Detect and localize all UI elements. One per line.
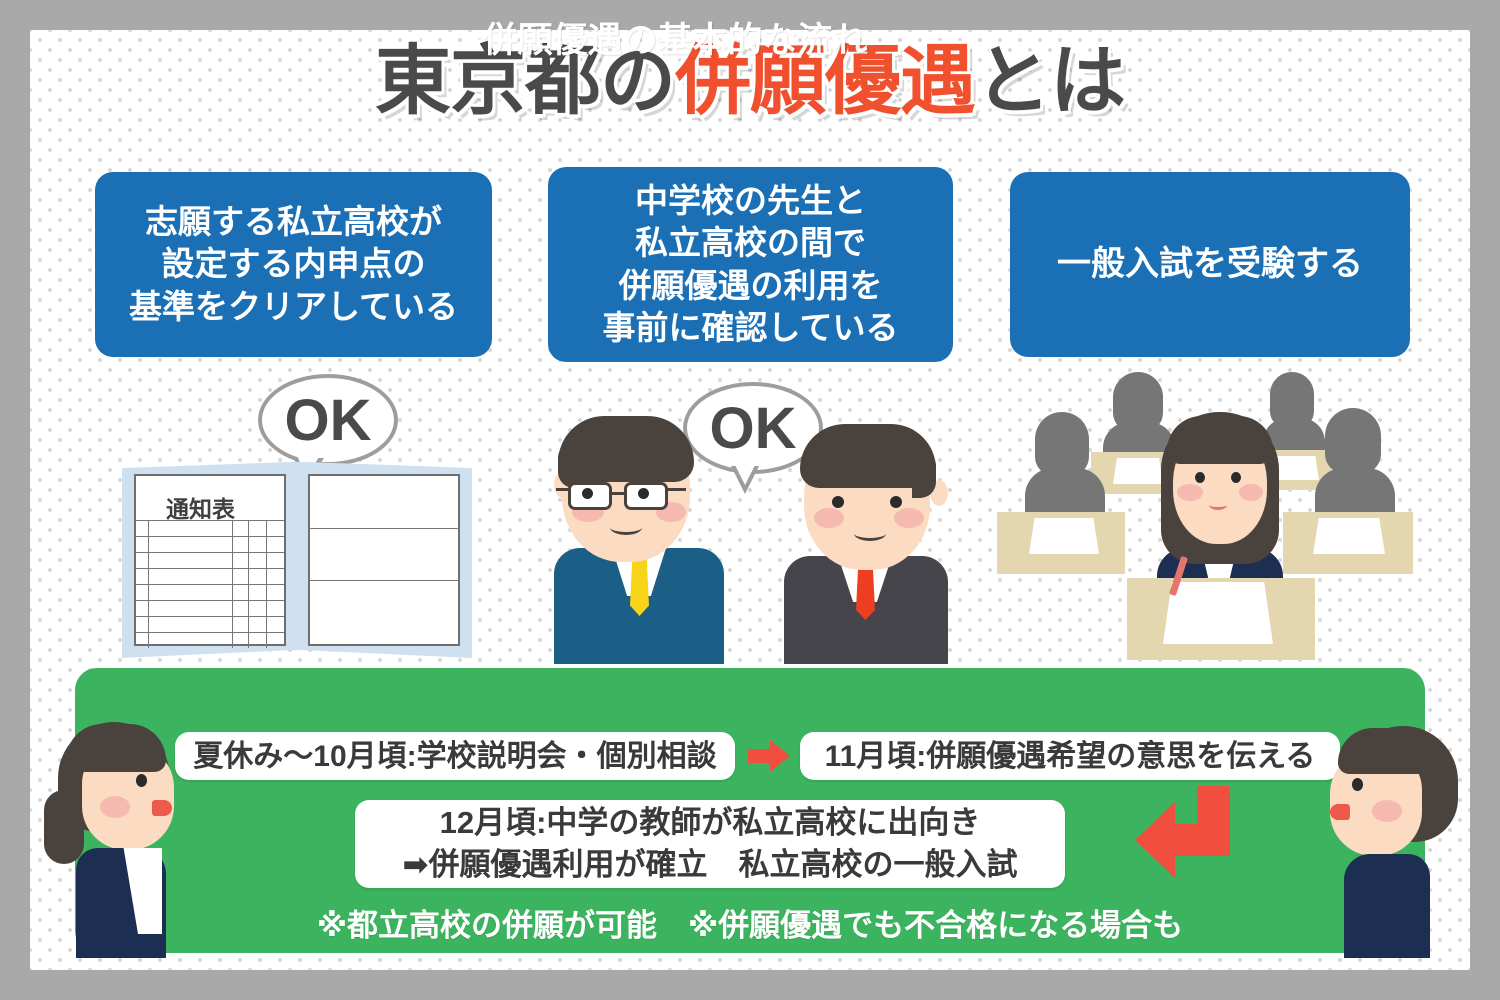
eye-left-exam-student	[1195, 472, 1205, 483]
mouth-exam-student	[1209, 500, 1227, 510]
hair-side-staff	[912, 450, 936, 498]
mouth-girl	[152, 800, 172, 816]
report-card-illustration: 通知表	[122, 462, 472, 662]
flow-step-1: 夏休み〜10月頃:学校説明会・個別相談	[175, 732, 735, 780]
student-silhouette-mid-right	[1325, 408, 1381, 474]
eye-girl	[136, 774, 147, 787]
red-tie-icon	[856, 564, 875, 620]
exam-paper-mid-left	[1029, 518, 1099, 554]
condition-card-2-line-2: 私立高校の間で	[602, 222, 898, 264]
yellow-tie-icon	[630, 558, 649, 616]
eye-boy	[1352, 778, 1363, 791]
report-card-grid-right	[310, 476, 458, 644]
ok-label-1: OK	[285, 387, 372, 454]
cheek-right-staff	[894, 508, 924, 528]
student-girl-illustration	[48, 712, 178, 957]
mouth-teacher	[610, 520, 642, 535]
mouth-boy	[1330, 804, 1350, 820]
condition-card-3-line-1: 一般入試を受験する	[1057, 243, 1363, 287]
gakuran-uniform-boy	[1344, 854, 1430, 958]
condition-card-2-line-1: 中学校の先生と	[602, 180, 898, 222]
person-teacher-with-glasses	[552, 398, 727, 664]
cheek-left-exam-student	[1177, 484, 1203, 501]
infographic-poster: 東京都の併願優遇とは 志願する私立高校が 設定する内申点の 基準をクリアしている…	[0, 0, 1500, 1000]
flow-step-3-line-1: 12月頃:中学の教師が私立高校に出向き	[440, 803, 981, 843]
student-boy-illustration	[1322, 718, 1462, 958]
eye-right-staff	[890, 496, 902, 508]
report-card-right-page	[308, 474, 460, 646]
condition-card-1-text: 志願する私立高校が 設定する内申点の 基準をクリアしている	[129, 201, 458, 328]
condition-card-2-line-3: 併願優遇の利用を	[602, 265, 898, 307]
condition-card-2-text: 中学校の先生と 私立高校の間で 併願優遇の利用を 事前に確認している	[602, 180, 898, 349]
exam-paper-back-left	[1113, 458, 1163, 484]
exam-paper-back-right	[1273, 456, 1319, 480]
arrow-right-icon	[748, 740, 790, 772]
condition-card-2-line-4: 事前に確認している	[602, 307, 898, 349]
ok-speech-bubble-1: OK	[258, 374, 398, 466]
report-card-grid-left	[136, 476, 284, 644]
eye-left-staff	[832, 496, 844, 508]
condition-card-1: 志願する私立高校が 設定する内申点の 基準をクリアしている	[95, 172, 492, 357]
flow-step-3-line-2: ➡併願優遇利用が確立 私立高校の一般入試	[403, 845, 1018, 885]
condition-card-1-line-3: 基準をクリアしている	[129, 286, 458, 328]
exam-paper-mid-right	[1313, 518, 1385, 554]
flow-step-3: 12月頃:中学の教師が私立高校に出向き ➡併願優遇利用が確立 私立高校の一般入試	[355, 800, 1065, 888]
hair-girl-fringe	[66, 724, 166, 772]
eye-right-exam-student	[1231, 472, 1241, 483]
exam-paper-front	[1163, 582, 1273, 644]
entrance-exam-illustration	[995, 360, 1425, 665]
student-silhouette-mid-left	[1035, 412, 1089, 476]
mouth-staff	[854, 526, 886, 541]
report-card-left-page: 通知表	[134, 474, 286, 646]
person-school-staff	[780, 406, 952, 664]
hair-exam-student-front	[1167, 416, 1273, 464]
condition-card-3: 一般入試を受験する	[1010, 172, 1410, 357]
teacher-and-school-staff-illustration	[552, 398, 952, 664]
eye-right	[638, 488, 649, 499]
condition-card-2: 中学校の先生と 私立高校の間で 併願優遇の利用を 事前に確認している	[548, 167, 953, 362]
flow-notes: ※都立高校の併願が可能 ※併願優遇でも不合格になる場合も	[75, 900, 1425, 945]
cheek-girl	[100, 796, 130, 818]
arrow-down-left-icon	[1135, 786, 1245, 878]
cheek-left-staff	[814, 508, 844, 528]
cheek-right-exam-student	[1239, 484, 1263, 501]
condition-card-1-line-2: 設定する内申点の	[129, 243, 458, 285]
cheek-boy	[1372, 800, 1402, 822]
eye-left	[582, 488, 593, 499]
condition-card-1-line-1: 志願する私立高校が	[129, 201, 458, 243]
flow-step-2: 11月頃:併願優遇希望の意思を伝える	[800, 732, 1340, 780]
hair-boy-fringe	[1338, 728, 1442, 774]
flow-heading: 併願優遇の基本的な流れ	[0, 12, 1350, 63]
